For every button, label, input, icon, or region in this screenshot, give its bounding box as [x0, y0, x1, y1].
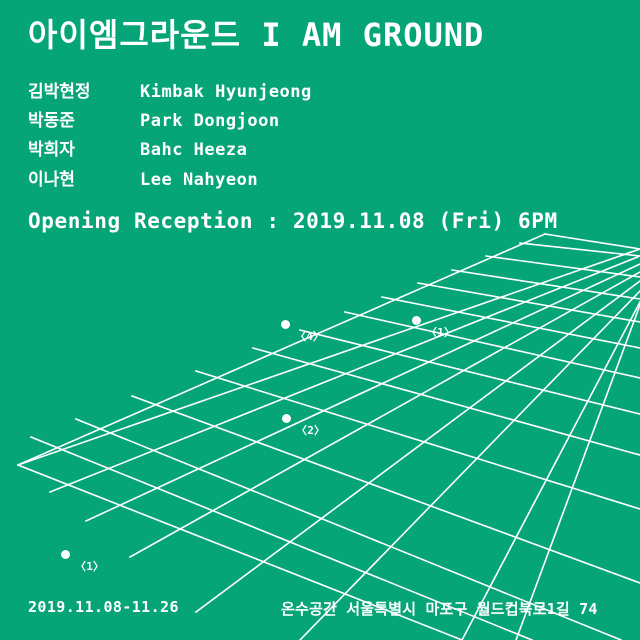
grid-line-longitudinal [50, 256, 640, 492]
grid-edge-far [545, 234, 640, 249]
grid-line-transverse [382, 297, 640, 348]
grid-line-transverse [196, 371, 640, 509]
list-item: 이나현 Lee Nahyeon [28, 166, 312, 195]
artist-name-kr: 이나현 [28, 166, 140, 195]
opening-reception-line: Opening Reception : 2019.11.08 (Fri) 6PM [28, 209, 558, 233]
marker-label: 〈2〉 [296, 422, 325, 438]
marker-dot-icon [412, 316, 421, 325]
grid-line-transverse [300, 330, 640, 414]
grid-line-transverse [418, 283, 640, 322]
artist-name-en: Kimbak Hyunjeong [140, 78, 312, 107]
marker-label: 〈1〉 [75, 558, 104, 574]
artist-name-en: Park Dongjoon [140, 107, 312, 136]
exhibition-dates: 2019.11.08-11.26 [28, 598, 179, 616]
grid-line-transverse [132, 396, 640, 583]
artist-name-kr: 김박현정 [28, 78, 140, 107]
list-item: 박희자 Bahc Heeza [28, 136, 312, 165]
marker-dot-icon [282, 414, 291, 423]
artist-name-en: Lee Nahyeon [140, 166, 312, 195]
list-item: 김박현정 Kimbak Hyunjeong [28, 78, 312, 107]
footer-bar: 2019.11.08-11.26 온수공간 서울특별시 마포구 월드컵북로1길 … [0, 598, 640, 628]
artist-name-en: Bahc Heeza [140, 136, 312, 165]
grid-line-longitudinal [18, 249, 640, 465]
grid-line-longitudinal [462, 302, 640, 640]
grid-line-transverse [452, 270, 640, 299]
grid-line-longitudinal [86, 264, 640, 521]
grid-edge-far [18, 234, 545, 465]
marker-label: 〈1〉 [426, 324, 455, 340]
grid-line-transverse [345, 312, 640, 378]
marker-dot-icon [281, 320, 290, 329]
marker-label: 〈4〉 [295, 328, 324, 344]
artist-name-kr: 박희자 [28, 136, 140, 165]
poster-canvas: 아이엠그라운드 I AM GROUND 김박현정 Kimbak Hyunjeon… [0, 0, 640, 640]
venue-address: 온수공간 서울특별시 마포구 월드컵북로1길 74 [281, 598, 598, 619]
grid-line-longitudinal [516, 305, 640, 640]
grid-line-longitudinal [300, 291, 640, 640]
artist-name-kr: 박동준 [28, 107, 140, 136]
artist-list: 김박현정 Kimbak Hyunjeong 박동준 Park Dongjoon … [28, 78, 312, 195]
grid-line-transverse [486, 256, 640, 277]
list-item: 박동준 Park Dongjoon [28, 107, 312, 136]
page-title: 아이엠그라운드 I AM GROUND [28, 16, 484, 54]
grid-line-longitudinal [130, 272, 640, 557]
marker-dot-icon [61, 550, 70, 559]
grid-line-transverse [520, 243, 640, 256]
grid-line-longitudinal [196, 281, 640, 612]
grid-line-transverse [253, 348, 640, 455]
